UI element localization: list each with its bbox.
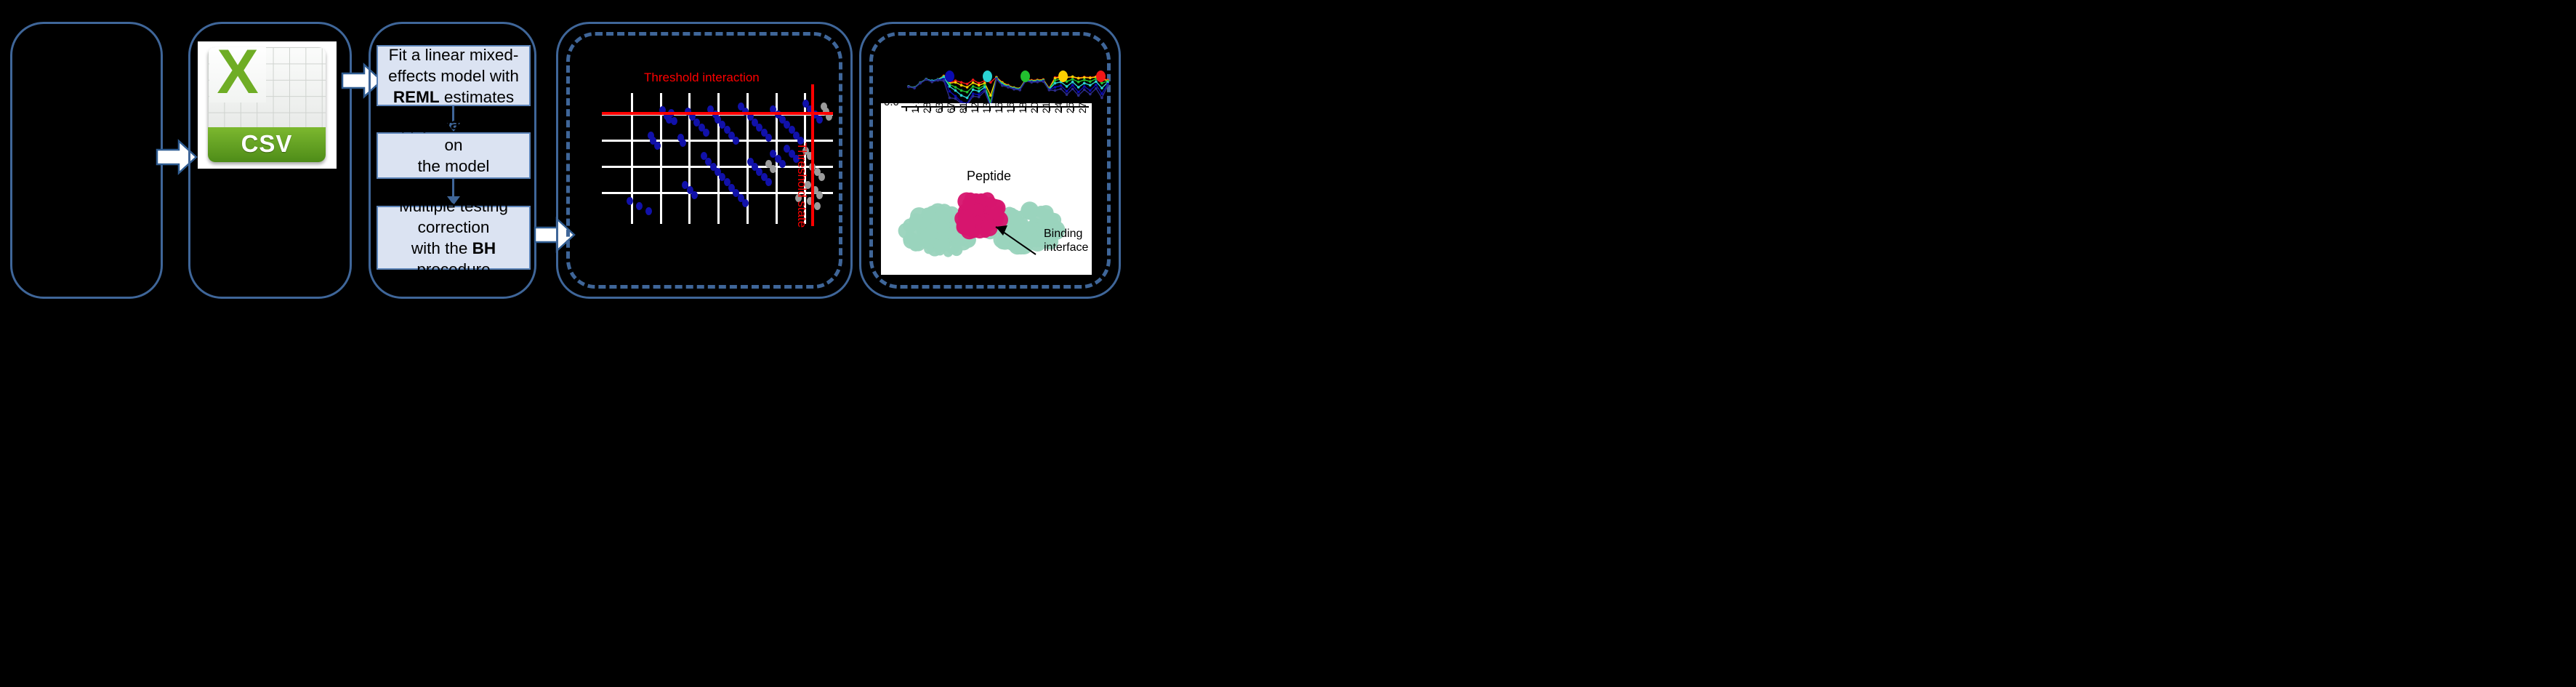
process-box-fit-model-text: Fit a linear mixed-effects model withREM… bbox=[388, 44, 519, 108]
line-series-marker bbox=[949, 85, 951, 88]
x-axis-tick-label: 158-166 bbox=[993, 103, 1005, 113]
line-series-marker bbox=[1001, 84, 1004, 87]
excel-x-glyph: X bbox=[209, 47, 266, 103]
legend-marker-2 bbox=[983, 71, 992, 82]
protein-receptor-surface bbox=[903, 219, 917, 233]
protein-ligand-surface bbox=[958, 217, 975, 234]
line-series-marker bbox=[972, 92, 975, 95]
process-box-wald-tests: Apply Wald tests onthe model parameters bbox=[377, 132, 531, 179]
scatter-point-nonsignificant bbox=[814, 202, 821, 210]
line-series-marker bbox=[1054, 89, 1057, 92]
protein-receptor-surface bbox=[936, 222, 949, 236]
protein-surface-image bbox=[894, 182, 1076, 270]
scatter-point-significant bbox=[671, 117, 677, 125]
protein-receptor-surface bbox=[1035, 206, 1047, 217]
protein-receptor-surface bbox=[924, 244, 934, 254]
line-series-marker bbox=[1106, 84, 1109, 87]
line-series-marker bbox=[1071, 87, 1074, 90]
line-series-marker bbox=[949, 97, 951, 100]
workflow-diagram: X CSV Fit a linear mixed-effects model w… bbox=[0, 0, 2576, 687]
csv-file-icon: X CSV bbox=[198, 41, 337, 169]
scatter-point-significant bbox=[636, 202, 643, 210]
protein-ligand-surface bbox=[972, 204, 984, 216]
line-series-marker bbox=[1077, 86, 1080, 89]
line-series-marker bbox=[1100, 82, 1103, 85]
process-box-bh-correction-text: Multiple testingcorrectionwith the BH pr… bbox=[382, 196, 525, 280]
line-series-marker bbox=[1089, 89, 1092, 92]
line-series-marker bbox=[978, 96, 981, 99]
line-series-marker bbox=[972, 85, 975, 88]
scatter-point-significant bbox=[645, 207, 652, 215]
x-axis-tick-label: 167-180 bbox=[1005, 103, 1016, 113]
line-series-marker bbox=[919, 82, 922, 85]
line-series-marker bbox=[983, 86, 986, 89]
scatter-point-significant bbox=[816, 116, 823, 124]
line-series-marker bbox=[1007, 86, 1010, 89]
line-series-marker bbox=[1054, 86, 1057, 89]
line-series-marker bbox=[1100, 97, 1103, 100]
line-series-marker bbox=[1048, 89, 1051, 92]
line-series-marker bbox=[966, 91, 969, 94]
x-axis-tick-label: 63-73 bbox=[933, 103, 945, 113]
protein-receptor-surface bbox=[1016, 211, 1026, 220]
line-series-marker bbox=[907, 86, 910, 89]
scatter-point-significant bbox=[627, 197, 633, 205]
process-box-bh-correction: Multiple testingcorrectionwith the BH pr… bbox=[377, 206, 531, 270]
legend-marker-1 bbox=[945, 71, 954, 82]
line-series-marker bbox=[966, 97, 969, 100]
line-series-marker bbox=[1100, 87, 1103, 89]
x-axis-tick-label: 184-199 bbox=[1017, 103, 1029, 113]
line-series-marker bbox=[1066, 93, 1068, 96]
scatter-point-nonsignificant bbox=[816, 191, 823, 199]
threshold-state-label: Threshold state bbox=[794, 142, 809, 228]
x-axis-tick-label: 28-44 bbox=[921, 103, 933, 113]
y-axis-tick-label: 0.0 bbox=[884, 103, 899, 108]
scatter-point-significant bbox=[691, 191, 698, 199]
line-series-marker bbox=[954, 97, 957, 100]
line-series-marker bbox=[1066, 90, 1068, 93]
line-series-marker bbox=[954, 89, 957, 92]
line-series-marker bbox=[930, 81, 933, 84]
line-series-marker bbox=[913, 87, 916, 89]
protein-receptor-surface bbox=[922, 208, 934, 220]
binding-interface-annotation: Binding interface bbox=[1044, 227, 1088, 254]
x-axis-tick-label: 81-101 bbox=[957, 103, 969, 113]
protein-ligand-surface bbox=[981, 220, 997, 236]
line-series-marker bbox=[960, 89, 963, 92]
x-axis-tick-label: 218-237 bbox=[1040, 103, 1052, 113]
line-series-marker bbox=[972, 95, 975, 98]
line-series-marker bbox=[972, 89, 975, 92]
line-series-marker bbox=[1066, 85, 1068, 88]
line-series-marker bbox=[1071, 84, 1074, 87]
x-axis-tick-label: 258-266 bbox=[1064, 103, 1076, 113]
line-series-marker bbox=[978, 84, 981, 87]
process-box-fit-model: Fit a linear mixed-effects model withREM… bbox=[377, 45, 531, 106]
line-series-marker bbox=[1100, 92, 1103, 95]
protein-receptor-surface bbox=[937, 204, 952, 219]
x-axis-tick-label: 277-284 bbox=[1076, 103, 1088, 113]
line-series-marker bbox=[1083, 89, 1086, 92]
line-series-marker bbox=[978, 87, 981, 90]
x-axis-tick-label: 67-75 bbox=[945, 103, 957, 113]
x-axis-tick-label: 122-129 bbox=[969, 103, 981, 113]
legend-marker-5 bbox=[1096, 71, 1106, 82]
line-series-marker bbox=[936, 79, 939, 82]
connector-wald-to-bh bbox=[452, 179, 454, 197]
line-series-marker bbox=[1077, 94, 1080, 97]
x-axis-tick-label: 1-15 bbox=[909, 103, 921, 113]
line-series-marker bbox=[1077, 91, 1080, 94]
threshold-interaction-line bbox=[602, 112, 833, 115]
line-series-marker bbox=[925, 79, 927, 81]
scatter-point-significant bbox=[703, 129, 709, 137]
line-series-marker bbox=[954, 95, 957, 98]
line-series-marker bbox=[966, 83, 969, 86]
x-axis-tick-label: 200-214 bbox=[1029, 103, 1040, 113]
line-series-marker bbox=[1083, 85, 1086, 88]
scatter-point-significant bbox=[765, 178, 772, 186]
line-series-marker bbox=[960, 94, 963, 97]
legend-marker-4 bbox=[1058, 71, 1068, 82]
scatter-point-significant bbox=[733, 137, 739, 145]
line-series-marker bbox=[1018, 89, 1021, 92]
line-series-marker bbox=[960, 84, 963, 87]
line-series-marker bbox=[949, 90, 951, 93]
line-series-marker bbox=[1095, 84, 1098, 87]
line-series-marker bbox=[1013, 88, 1015, 91]
x-axis-tick bbox=[906, 106, 907, 111]
peptide-axis-and-structure-inset: 0.0 1-1528-4463-7367-7581-101122-129135-… bbox=[881, 103, 1092, 275]
line-series-marker bbox=[1089, 93, 1092, 96]
protein-ligand-surface bbox=[986, 197, 997, 208]
timepoint-legend bbox=[945, 71, 1114, 82]
legend-marker-3 bbox=[1021, 71, 1030, 82]
threshold-interaction-label: Threshold interaction bbox=[644, 71, 760, 85]
line-series-marker bbox=[1060, 87, 1063, 90]
line-series-marker bbox=[983, 90, 986, 93]
line-series-marker bbox=[1060, 84, 1063, 87]
threshold-state-line bbox=[811, 84, 814, 226]
x-axis-tick-label: 135-144 bbox=[981, 103, 992, 113]
line-series-marker bbox=[978, 90, 981, 93]
scatter-point-nonsignificant bbox=[818, 173, 825, 181]
line-series-marker bbox=[1089, 84, 1092, 87]
dataset-panel bbox=[10, 22, 163, 299]
line-series-marker bbox=[1083, 82, 1086, 85]
csv-label: CSV bbox=[208, 127, 326, 162]
line-series-marker bbox=[966, 86, 969, 89]
scatter-point-significant bbox=[680, 139, 686, 147]
x-axis-tick-label: 241-257 bbox=[1052, 103, 1064, 113]
line-series-marker bbox=[954, 86, 957, 89]
line-series-marker bbox=[1095, 87, 1098, 90]
line-series-marker bbox=[1054, 82, 1057, 85]
